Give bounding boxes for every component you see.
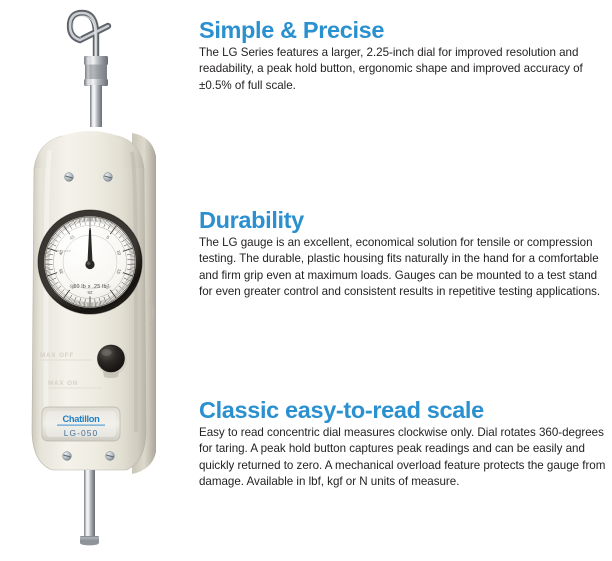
feature-body-durability: The LG gauge is an excellent, economical… [199,235,607,299]
model-number: LG-050 [64,428,99,438]
knurled-collar [84,56,108,86]
feature-section-simple-precise: Simple & Precise The LG Series features … [199,18,607,94]
max-off-label: MAX OFF [40,352,74,359]
brand-name: Chatillon [62,414,100,424]
force-gauge-illustration: 051015202530354045 LBS. MAX 50 lb x .25 … [0,0,192,561]
feature-section-classic-scale: Classic easy-to-read scale Easy to read … [199,398,607,490]
feature-content-column: Simple & Precise The LG Series features … [199,0,607,561]
max-on-label: MAX ON [48,380,78,387]
dial-assembly: 051015202530354045 LBS. MAX 50 lb x .25 … [38,210,142,314]
dial-number: 25 [87,290,93,295]
feature-body-classic-scale: Easy to read concentric dial measures cl… [199,425,607,489]
product-feature-page: 051015202530354045 LBS. MAX 50 lb x .25 … [0,0,612,561]
upper-shaft [90,85,102,127]
product-figure: 051015202530354045 LBS. MAX 50 lb x .25 … [0,0,192,561]
feature-section-durability: Durability The LG gauge is an excellent,… [199,208,607,300]
id-label-plate: Chatillon LG-050 [42,407,120,441]
feature-heading-durability: Durability [199,208,607,233]
bottom-stem [80,470,99,545]
feature-body-simple-precise: The LG Series features a larger, 2.25-in… [199,45,607,93]
dial-caption: 50 lb x .25 lb [73,284,106,290]
feature-heading-classic-scale: Classic easy-to-read scale [199,398,607,423]
feature-heading-simple-precise: Simple & Precise [199,18,607,43]
